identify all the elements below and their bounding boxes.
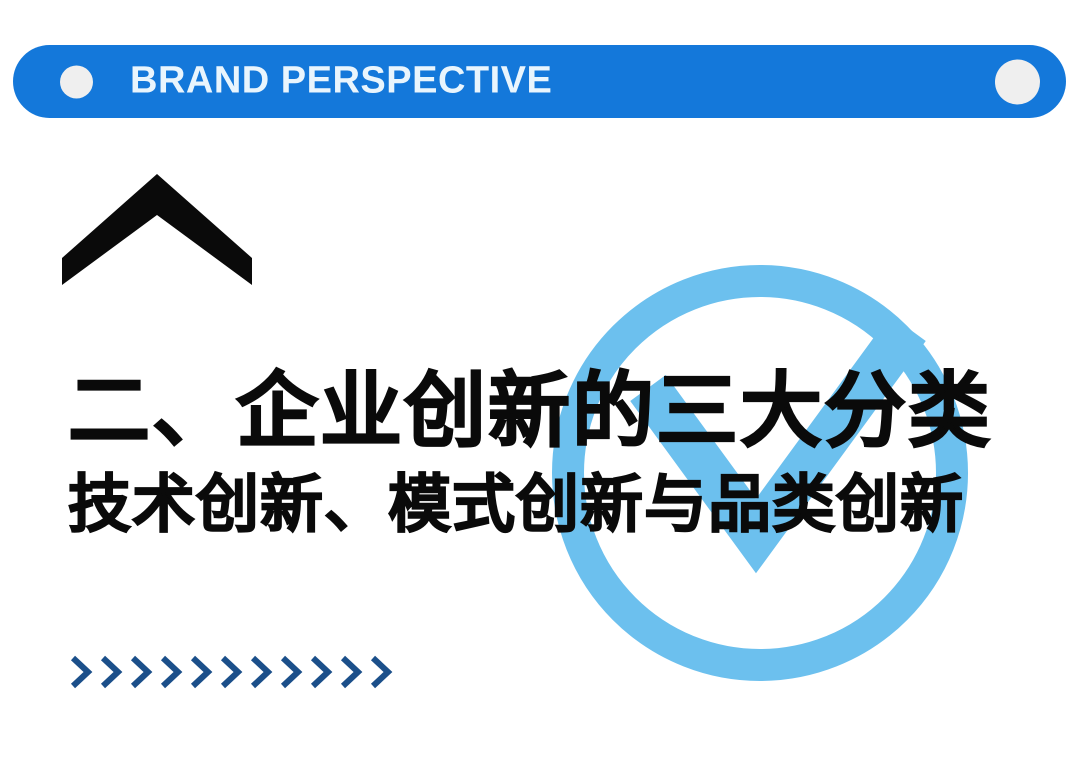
page-subtitle: 技术创新、模式创新与品类创新	[68, 471, 1058, 540]
chevron-right-icon	[338, 655, 368, 689]
chevron-right-icon	[278, 655, 308, 689]
chevron-right-icon	[188, 655, 218, 689]
slide-canvas: BRAND PERSPECTIVE 二、企业创新的三大分类 技术创新、模式创新与…	[0, 0, 1080, 766]
chevron-right-icon	[308, 655, 338, 689]
header-bar: BRAND PERSPECTIVE	[13, 45, 1066, 118]
chevron-right-icon	[218, 655, 248, 689]
header-title: BRAND PERSPECTIVE	[130, 59, 552, 102]
circle-dot-left-icon	[60, 65, 93, 98]
chevron-right-icon	[128, 655, 158, 689]
heading-block: 二、企业创新的三大分类 技术创新、模式创新与品类创新	[68, 368, 1058, 540]
chevron-up-icon	[62, 172, 252, 287]
chevron-strip	[68, 652, 398, 692]
chevron-right-icon	[158, 655, 188, 689]
page-title: 二、企业创新的三大分类	[68, 368, 1058, 457]
chevron-right-icon	[68, 655, 98, 689]
chevron-right-icon	[98, 655, 128, 689]
chevron-right-icon	[368, 655, 398, 689]
chevron-right-icon	[248, 655, 278, 689]
circle-dot-right-icon	[995, 59, 1040, 104]
